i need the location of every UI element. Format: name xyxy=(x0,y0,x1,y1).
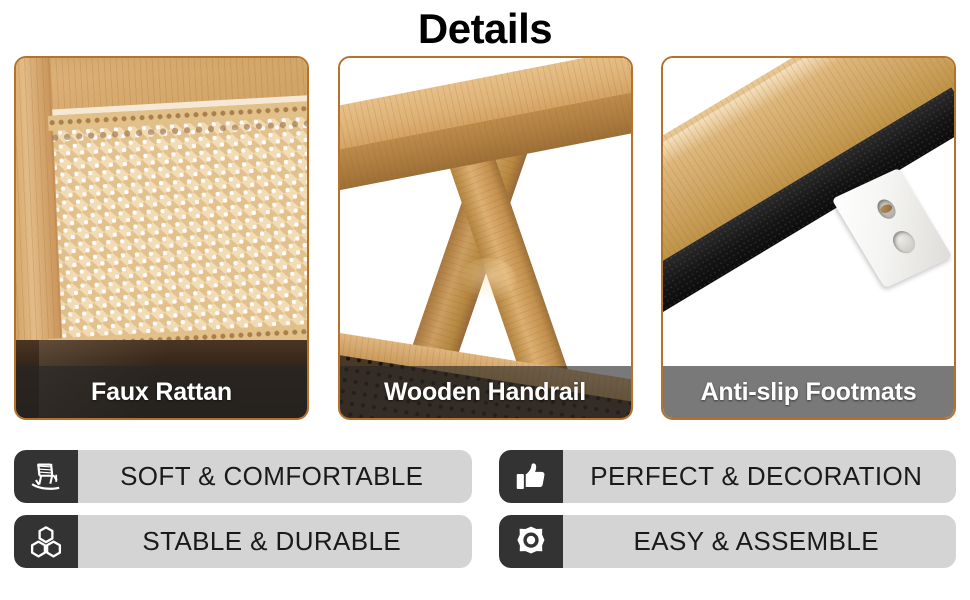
feature-label-perfect-decoration: PERFECT & DECORATION xyxy=(563,461,957,492)
hexagon-cluster-icon xyxy=(14,515,78,568)
gear-icon xyxy=(499,515,563,568)
feature-badge-easy-assemble[interactable]: EASY & ASSEMBLE xyxy=(499,515,957,568)
feature-label-easy-assemble: EASY & ASSEMBLE xyxy=(563,526,957,557)
page-title: Details xyxy=(0,0,970,56)
panel-caption-anti-slip-footmats: Anti-slip Footmats xyxy=(663,366,954,418)
detail-panel-wooden-handrail[interactable]: Wooden Handrail xyxy=(338,56,633,420)
panel-caption-wooden-handrail: Wooden Handrail xyxy=(340,366,631,418)
feature-badge-stable-durable[interactable]: STABLE & DURABLE xyxy=(14,515,472,568)
detail-panel-faux-rattan[interactable]: Faux Rattan xyxy=(14,56,309,420)
feature-badges: SOFT & COMFORTABLE PERFECT & DECORATION … xyxy=(14,450,956,568)
detail-panel-anti-slip-footmats[interactable]: Anti-slip Footmats xyxy=(661,56,956,420)
feature-badge-soft-comfortable[interactable]: SOFT & COMFORTABLE xyxy=(14,450,472,503)
wooden-handrail-photo xyxy=(340,58,631,418)
feature-label-stable-durable: STABLE & DURABLE xyxy=(78,526,472,557)
thumbs-up-icon xyxy=(499,450,563,503)
feature-badge-perfect-decoration[interactable]: PERFECT & DECORATION xyxy=(499,450,957,503)
rocking-chair-icon xyxy=(14,450,78,503)
panel-caption-faux-rattan: Faux Rattan xyxy=(16,366,307,418)
detail-panels: Faux Rattan Wooden Handrail xyxy=(0,56,970,420)
faux-rattan-photo xyxy=(16,58,307,418)
feature-label-soft-comfortable: SOFT & COMFORTABLE xyxy=(78,461,472,492)
anti-slip-footmats-photo xyxy=(663,58,954,418)
